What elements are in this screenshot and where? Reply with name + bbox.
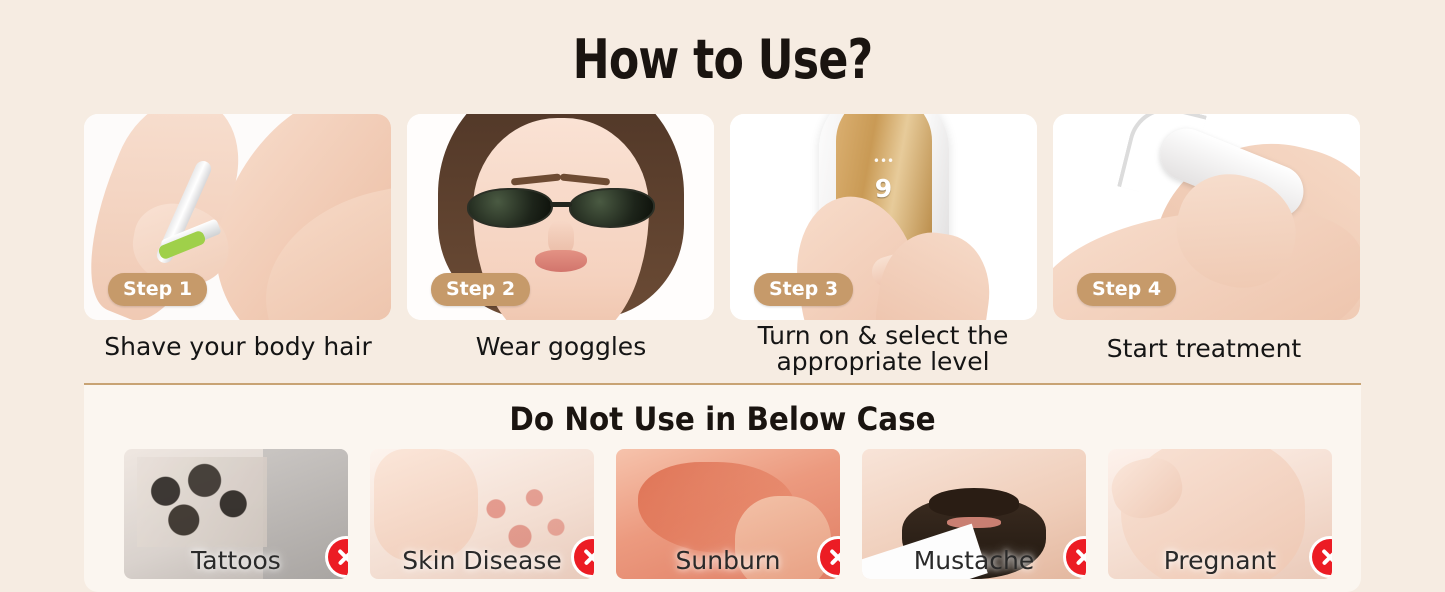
no-entry-icon [1066,539,1086,575]
page-title: How to Use? [130,28,1315,91]
warning-label: Sunburn [676,546,781,575]
no-entry-icon [1312,539,1332,575]
device-indicator-dots: ••• [873,154,894,168]
step-caption-4: Start treatment [1044,336,1364,362]
step-caption-3: Turn on & select the appropriate level [723,323,1043,376]
step-card-4: Step 4 [1053,114,1360,320]
lips-shape [535,250,587,272]
step-badge-4: Step 4 [1077,273,1176,306]
warning-label: Pregnant [1164,546,1276,575]
step-card-3: ••• 9 ✳ Step 3 [730,114,1037,320]
device-level-value: 9 [875,174,892,203]
step-card-1: Step 1 [84,114,391,320]
goggles-lens-left [467,188,553,228]
warning-label: Mustache [914,546,1035,575]
warning-label: Tattoos [191,546,281,575]
step-badge-1: Step 1 [108,273,207,306]
warning-card-pregnant: Pregnant [1108,449,1332,579]
warning-card-sunburn: Sunburn [616,449,840,579]
warning-card-tattoos: Tattoos [124,449,348,579]
step-badge-3: Step 3 [754,273,853,306]
steps-row: Step 1 Step 2 [84,114,1361,324]
mustache-art [929,488,1019,517]
step-card-2: Step 2 [407,114,714,320]
how-to-use-infographic: How to Use? Step 1 [0,0,1445,592]
warning-label: Skin Disease [402,546,561,575]
warning-items-row: Tattoos Skin Disease Sunburn Mus [124,449,1369,589]
goggles-lens-right [569,188,655,228]
step-badge-2: Step 2 [431,273,530,306]
tattoo-art [137,457,267,547]
step-caption-1: Shave your body hair [78,334,398,360]
step-caption-2: Wear goggles [401,334,721,360]
warning-card-mustache: Mustache [862,449,1086,579]
lips-shape [947,517,1001,529]
warning-section-title: Do Not Use in Below Case [135,400,1310,438]
goggles-bridge [550,202,572,207]
warning-panel: Do Not Use in Below Case Tattoos Skin Di… [84,385,1361,592]
warning-card-skin-disease: Skin Disease [370,449,594,579]
